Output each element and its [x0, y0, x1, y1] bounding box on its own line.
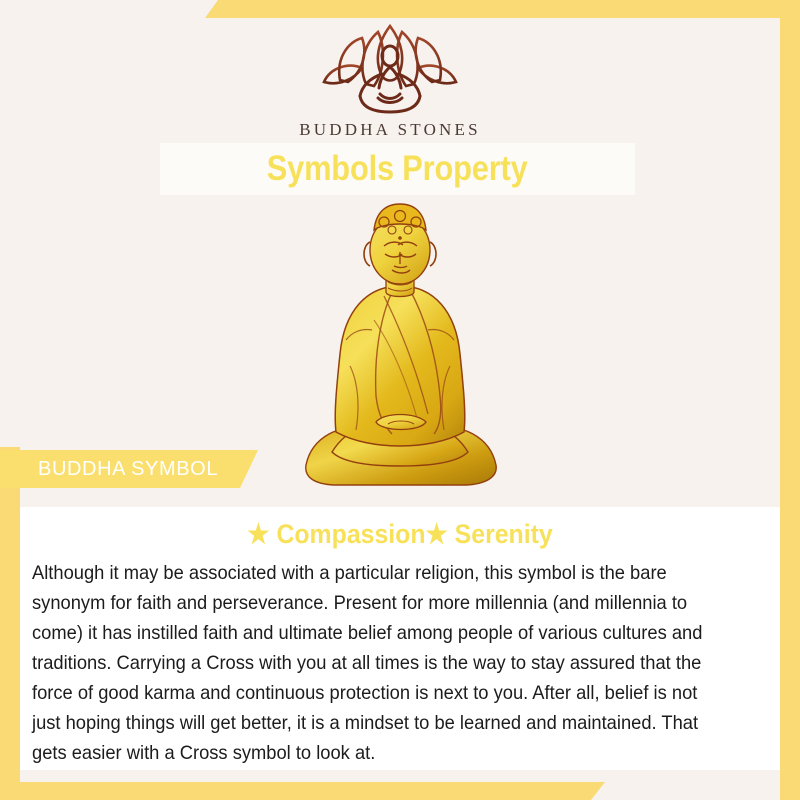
- poster-root: BUDDHA STONES Symbols Property: [0, 0, 800, 800]
- frame-band-left: [0, 447, 20, 800]
- buddha-statue-image: [288, 200, 513, 500]
- brand-logo: BUDDHA STONES: [0, 22, 780, 140]
- frame-band-top: [205, 0, 800, 18]
- title-banner: Symbols Property: [160, 143, 635, 195]
- brand-name: BUDDHA STONES: [0, 120, 780, 140]
- content-subtitle: ★ Compassion★ Serenity: [50, 519, 749, 550]
- section-tag-buddha-symbol: BUDDHA SYMBOL: [0, 450, 258, 488]
- frame-band-bottom: [0, 782, 605, 800]
- frame-band-right: [780, 18, 800, 800]
- section-tag-label: BUDDHA SYMBOL: [38, 458, 218, 481]
- page-title: Symbols Property: [267, 149, 528, 189]
- lotus-meditation-icon: [304, 22, 476, 118]
- content-paragraph: Although it may be associated with a par…: [32, 558, 724, 768]
- golden-buddha-statue-icon: [288, 200, 513, 500]
- content-block: ★ Compassion★ Serenity Although it may b…: [20, 507, 780, 770]
